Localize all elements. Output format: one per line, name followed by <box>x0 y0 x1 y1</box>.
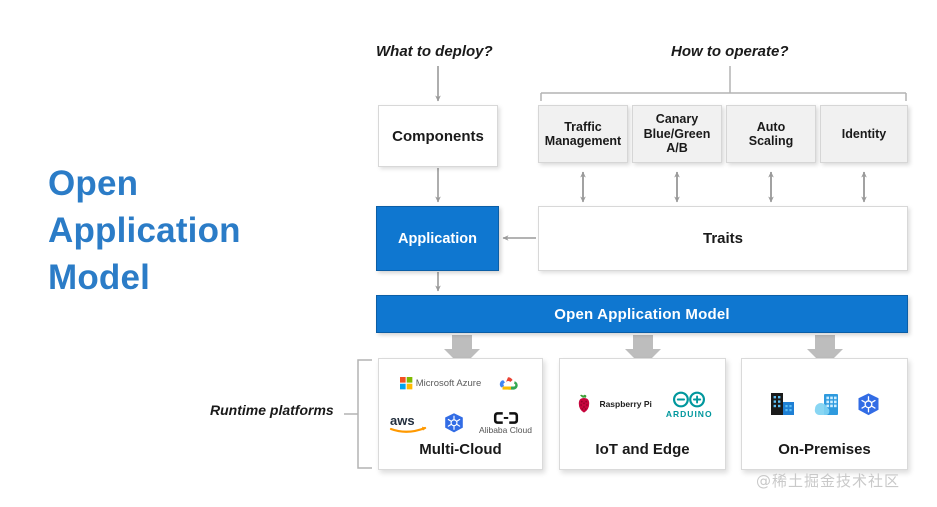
platform-iot-and-edge-label: IoT and Edge <box>595 441 689 469</box>
kubernetes-logo <box>443 412 465 434</box>
trait-canary-bluegreen-ab[interactable]: CanaryBlue/GreenA/B <box>632 105 722 163</box>
platform-card-iot-and-edge[interactable]: Raspberry Pi ARDUINO <box>559 358 726 470</box>
aws-logo: aws <box>389 412 429 434</box>
raspberry-pi-logo-text: Raspberry Pi <box>599 399 651 409</box>
trait-identity-label: Identity <box>842 127 886 142</box>
microsoft-azure-logo-text: Microsoft Azure <box>416 378 481 389</box>
node-components-label: Components <box>392 128 484 145</box>
trait-canary-bluegreen-ab-label: CanaryBlue/GreenA/B <box>644 112 711 156</box>
platform-multi-cloud-label: Multi-Cloud <box>419 441 501 469</box>
platform-card-on-premises[interactable]: On-Premises <box>741 358 908 470</box>
logo-row-top: Microsoft Azure <box>387 374 534 394</box>
title-line-1: Open <box>48 160 338 207</box>
datacenter-building-icon <box>768 390 798 418</box>
node-application[interactable]: Application <box>376 206 499 271</box>
google-cloud-logo <box>495 374 521 394</box>
trait-auto-scaling-label: AutoScaling <box>749 120 793 149</box>
azure-stack-icon <box>812 390 842 418</box>
logo-row-iot: Raspberry Pi ARDUINO <box>568 390 717 419</box>
trait-auto-scaling[interactable]: AutoScaling <box>726 105 816 163</box>
logo-row-bottom: aws <box>387 411 534 435</box>
svg-text:aws: aws <box>390 413 415 428</box>
label-how-to-operate: How to operate? <box>671 43 789 60</box>
platform-on-premises-label: On-Premises <box>778 441 871 469</box>
bracket-runtime <box>344 360 372 468</box>
platform-card-multi-cloud[interactable]: Microsoft Azure aws <box>378 358 543 470</box>
node-components[interactable]: Components <box>378 105 498 167</box>
node-open-application-model-bar[interactable]: Open Application Model <box>376 295 908 333</box>
node-traits[interactable]: Traits <box>538 206 908 271</box>
title-line-2: Application <box>48 207 338 254</box>
label-runtime-platforms: Runtime platforms <box>210 402 334 418</box>
label-what-to-deploy: What to deploy? <box>376 43 493 60</box>
diagram-canvas: Open Application Model What to deploy? H… <box>0 0 937 507</box>
watermark: @稀土掘金技术社区 <box>756 470 900 491</box>
platform-multi-cloud-logos: Microsoft Azure aws <box>379 359 542 441</box>
trait-traffic-management[interactable]: TrafficManagement <box>538 105 628 163</box>
platform-iot-logos: Raspberry Pi ARDUINO <box>560 359 725 441</box>
raspberry-pi-logo: Raspberry Pi <box>572 392 651 416</box>
node-traits-label: Traits <box>703 230 743 247</box>
bracket-operate <box>541 66 906 101</box>
node-oam-bar-label: Open Application Model <box>554 306 730 323</box>
platform-onprem-logos <box>742 359 907 441</box>
kubernetes-logo-onprem <box>856 392 881 417</box>
trait-identity[interactable]: Identity <box>820 105 908 163</box>
trait-traffic-management-label: TrafficManagement <box>545 120 621 149</box>
alibaba-cloud-logo: Alibaba Cloud <box>479 411 532 435</box>
page-title: Open Application Model <box>48 160 338 301</box>
arduino-logo: ARDUINO <box>666 390 713 419</box>
alibaba-cloud-logo-text: Alibaba Cloud <box>479 425 532 435</box>
arduino-logo-text: ARDUINO <box>666 409 713 419</box>
microsoft-azure-logo: Microsoft Azure <box>400 377 481 390</box>
title-line-3: Model <box>48 254 338 301</box>
logo-row-onprem <box>750 390 899 418</box>
node-application-label: Application <box>398 231 477 247</box>
